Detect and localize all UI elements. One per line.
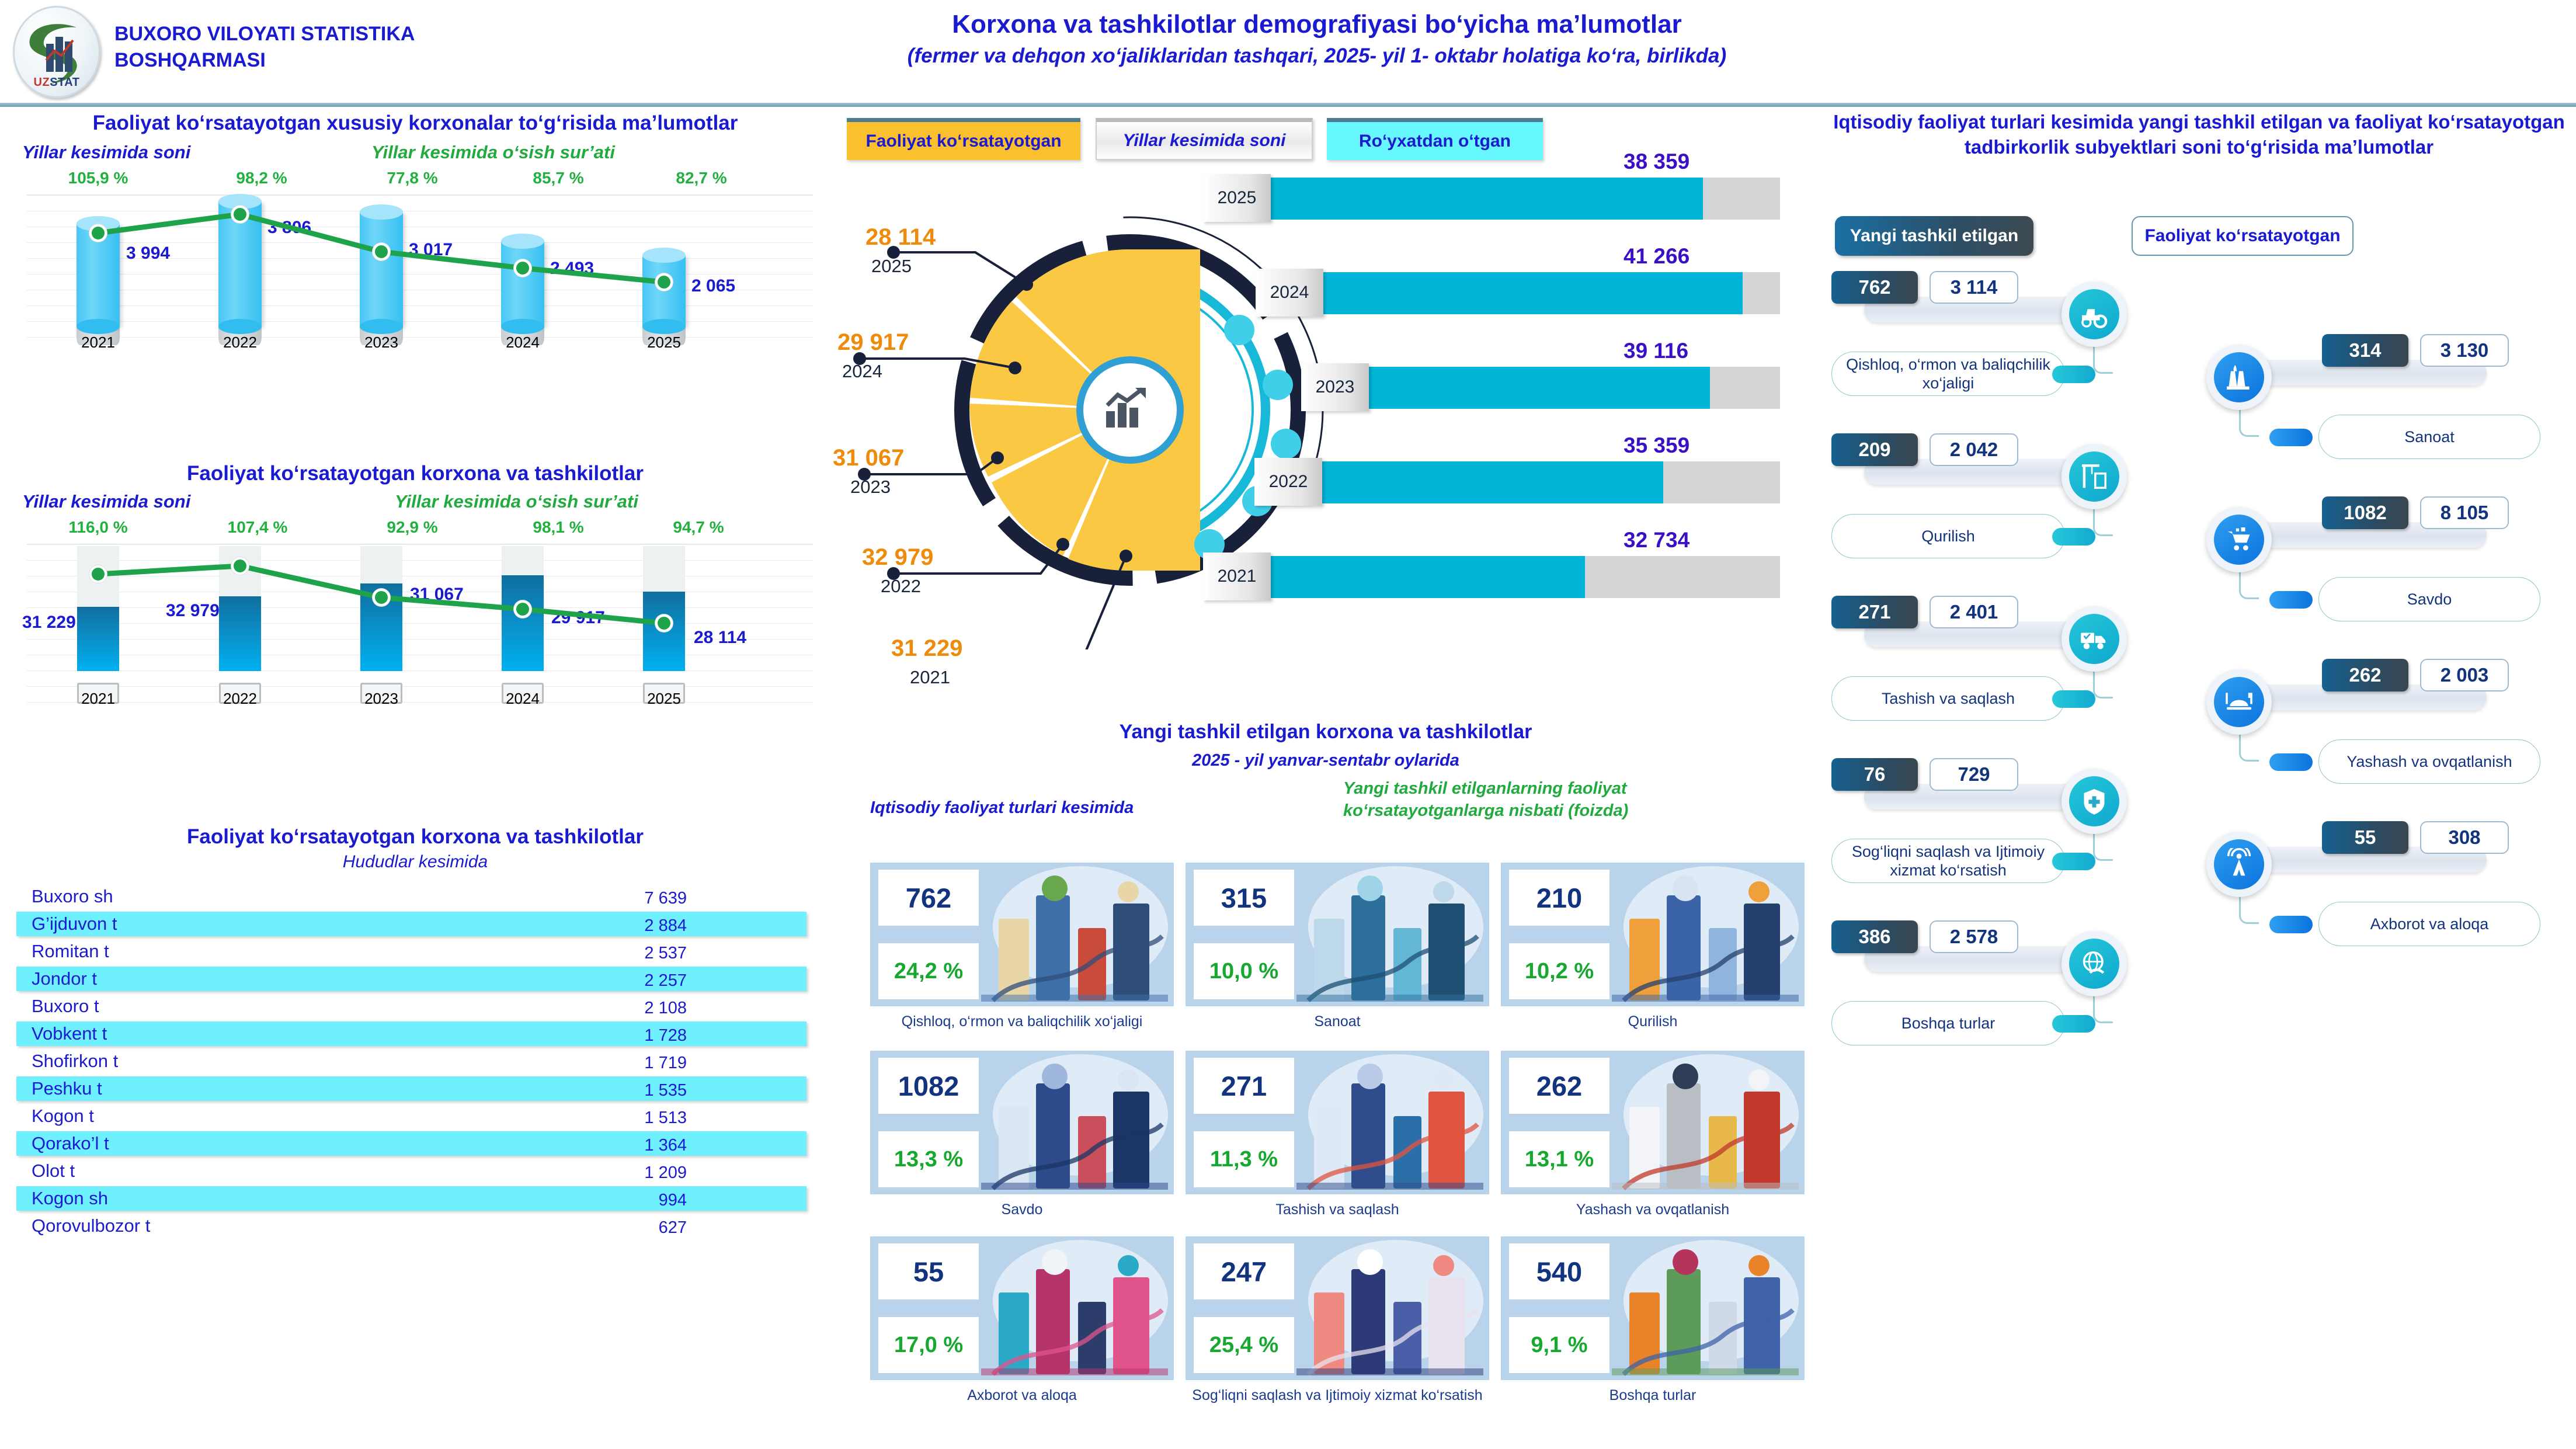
activity-card-percent: 10,0 % (1194, 943, 1294, 999)
node-connector (2269, 429, 2313, 446)
node-label: Sog‘liqni saqlash va Ijtimoiy xizmat ko‘… (1831, 839, 2065, 883)
activity-card-box: 26213,1 % (1501, 1051, 1805, 1194)
chart-active-enterprises: Faoliyat ko‘rsatayotgan korxona va tashk… (9, 461, 821, 707)
region-name: Peshku t (32, 1078, 102, 1099)
health-shield-icon (2062, 769, 2127, 834)
factory-icon (2206, 345, 2272, 410)
activity-card-count: 315 (1194, 870, 1294, 926)
table-row: Vobkent t1 728 (16, 1020, 821, 1048)
activity-card-count: 540 (1509, 1243, 1609, 1299)
activity-card-caption: Sog‘liqni saqlash va Ijtimoiy xizmat ko‘… (1186, 1386, 1489, 1405)
chart2-trendline (9, 544, 821, 707)
node-connector (2269, 753, 2313, 771)
region-value: 2 537 (644, 944, 687, 963)
activity-card-caption: Tashish va saqlash (1186, 1200, 1489, 1219)
chart2-growth-2022: 107,4 % (228, 518, 288, 537)
chart1-growth-2023: 77,8 % (387, 169, 437, 187)
region-table-block: Faoliyat ko‘rsatayotgan korxona va tashk… (9, 825, 821, 872)
node-new-count: 209 (1831, 433, 1918, 466)
donut-value-2024: 29 917 (837, 329, 909, 356)
chart-private-enterprises: Faoliyat ko‘rsatayotgan xususiy korxonal… (9, 111, 821, 350)
node-new-count: 271 (1831, 596, 1918, 628)
activity-card-count: 1082 (878, 1058, 979, 1114)
region-name: Buxoro sh (32, 886, 113, 907)
node-connector (2052, 1015, 2095, 1033)
activity-card: 24725,4 %Sog‘liqni saqlash va Ijtimoiy x… (1186, 1236, 1489, 1405)
activity-card: 76224,2 %Qishloq, o‘rmon va baliqchilik … (870, 863, 1174, 1031)
hbar-track-2021 (1266, 556, 1780, 598)
hbar-track-2023 (1364, 367, 1780, 409)
chart1-growth-2022: 98,2 % (236, 169, 287, 187)
activity-node: 3862 578Boshqa turlar (1829, 920, 2179, 1055)
activity-card-box: 76224,2 % (870, 863, 1174, 1006)
region-value: 1 719 (644, 1054, 687, 1073)
chart2-legend-count: Yillar kesimida soni (22, 491, 190, 512)
node-active-count: 3 114 (1930, 271, 2018, 304)
hbar-value-2023: 39 116 (1624, 339, 1688, 363)
region-value: 1 364 (644, 1136, 687, 1155)
activity-card-caption: Sanoat (1186, 1012, 1489, 1031)
activity-card-box: 27111,3 % (1186, 1051, 1489, 1194)
table-row: Olot t1 209 (16, 1158, 821, 1185)
it-icon (975, 1236, 1174, 1380)
legend-active-operating: Faoliyat ko‘rsatayotgan (2132, 216, 2353, 256)
region-table-subtitle: Hududlar kesimida (9, 852, 821, 872)
hbar-year-2023: 2023 (1301, 363, 1369, 411)
other-icon (1606, 1236, 1805, 1380)
activity-card: 5409,1 %Boshqa turlar (1501, 1236, 1805, 1405)
node-label: Tashish va saqlash (1831, 676, 2065, 721)
donut-value-2021: 31 229 (891, 635, 962, 662)
donut-value-2022: 32 979 (862, 544, 933, 571)
activity-card-box: 31510,0 % (1186, 863, 1489, 1006)
activity-card: 108213,3 %Savdo (870, 1051, 1174, 1219)
delivery-icon (1291, 1051, 1489, 1194)
node-new-count: 55 (2322, 821, 2408, 854)
page-title-main: Korxona va tashkilotlar demografiyasi bo… (689, 8, 1945, 40)
hbar-row-2021: 2021 32 734 (1203, 543, 1810, 609)
region-value: 1 535 (644, 1081, 687, 1100)
region-table-title: Faoliyat ko‘rsatayotgan korxona va tashk… (9, 825, 821, 850)
activity-card-box: 108213,3 % (870, 1051, 1174, 1194)
node-new-count: 386 (1831, 920, 1918, 953)
chart2-point-2022 (231, 557, 249, 575)
crane-icon (2062, 444, 2127, 509)
industry-icon (1291, 863, 1489, 1006)
chart1-point-2021 (89, 224, 107, 242)
hbar-value-2025: 38 359 (1624, 150, 1689, 174)
node-elbow (2239, 896, 2259, 924)
node-connector (2052, 853, 2095, 870)
region-name: Shofirkon t (32, 1051, 118, 1072)
node-label: Boshqa turlar (1831, 1001, 2065, 1045)
region-name: Qorako’l t (32, 1133, 109, 1154)
table-row: Shofirkon t1 719 (16, 1048, 821, 1075)
restaurant-icon (1606, 1051, 1805, 1194)
page-title: Korxona va tashkilotlar demografiyasi bo… (689, 8, 1945, 70)
region-name: Vobkent t (32, 1023, 107, 1044)
node-active-count: 308 (2420, 821, 2509, 854)
node-elbow (2093, 995, 2113, 1023)
hbar-track-2025 (1266, 178, 1780, 220)
region-table: Buxoro sh7 639G’ijduvon t2 884Romitan t2… (16, 883, 821, 1240)
new-legend-left: Iqtisodiy faoliyat turlari kesimida (870, 798, 1134, 818)
activity-card-count: 271 (1194, 1058, 1294, 1114)
region-name: G’ijduvon t (32, 913, 117, 934)
table-row: Qorovulbozor t627 (16, 1212, 821, 1240)
chart2-point-2025 (655, 614, 673, 632)
organization-name: BUXORO VILOYATI STATISTIKA BOSHQARMASI (114, 21, 523, 74)
chart1-point-2025 (655, 273, 673, 291)
row-highlight (16, 912, 806, 936)
node-elbow (2239, 409, 2259, 437)
activity-card-box: 21010,2 % (1501, 863, 1805, 1006)
donut-year-2025: 2025 (871, 256, 912, 277)
activity-card-percent: 24,2 % (878, 943, 979, 999)
chart2-point-2024 (514, 600, 531, 618)
activity-card-percent: 10,2 % (1509, 943, 1609, 999)
hbar-value-2021: 32 734 (1624, 528, 1689, 553)
registered-bars-chart: 2025 38 359 2024 41 266 2023 39 116 2022 (1203, 165, 1810, 655)
node-new-count: 1082 (2322, 496, 2408, 529)
legend-new-established: Yangi tashkil etilgan (1835, 216, 2033, 256)
hbar-row-2025: 2025 38 359 (1203, 165, 1810, 230)
donut-year-2023: 2023 (850, 477, 891, 498)
new-enterprises-title: Yangi tashkil etilgan korxona va tashkil… (829, 721, 1822, 743)
activity-card-count: 55 (878, 1243, 979, 1299)
node-elbow (2239, 734, 2259, 762)
activity-card-count: 247 (1194, 1243, 1294, 1299)
node-new-count: 762 (1831, 271, 1918, 304)
node-connector (2052, 366, 2095, 383)
node-elbow (2093, 346, 2113, 374)
tractor-icon (2062, 282, 2127, 347)
cart-icon (2206, 507, 2272, 572)
chart1-title: Faoliyat ko‘rsatayotgan xususiy korxonal… (9, 111, 821, 136)
node-label: Qishloq, o‘rmon va baliqchilik xo‘jaligi (1831, 352, 2065, 396)
hbar-row-2023: 2023 39 116 (1203, 354, 1810, 419)
hbar-year-2022: 2022 (1254, 458, 1322, 506)
tab-yillar-kesimida-soni[interactable]: Yillar kesimida soni (1096, 118, 1313, 160)
region-value: 7 639 (644, 889, 687, 908)
center-panel: Faoliyat ko‘rsatayotgan Yillar kesimida … (829, 106, 1822, 1449)
activity-card: 26213,1 %Yashash va ovqatlanish (1501, 1051, 1805, 1219)
activity-node: 76729Sog‘liqni saqlash va Ijtimoiy xizma… (1829, 758, 2179, 892)
node-new-count: 262 (2322, 659, 2408, 692)
logo-stat-text: STAT (50, 76, 79, 89)
node-connector (2269, 916, 2313, 933)
activity-card: 5517,0 %Axborot va aloqa (870, 1236, 1174, 1405)
region-value: 1 209 (644, 1163, 687, 1183)
region-name: Buxoro t (32, 996, 99, 1017)
chart1-growth-2025: 82,7 % (676, 169, 726, 187)
hbar-value-2022: 35 359 (1624, 433, 1689, 458)
activity-card-box: 24725,4 % (1186, 1236, 1489, 1380)
left-panel: Faoliyat ko‘rsatayotgan xususiy korxonal… (0, 106, 829, 1449)
node-active-count: 2 401 (1930, 596, 2018, 628)
activity-card-percent: 13,3 % (878, 1131, 979, 1187)
node-active-count: 8 105 (2420, 496, 2509, 529)
activity-node: 2092 042Qurilish (1829, 433, 2179, 568)
chart1-legend-growth: Yillar kesimida o‘sish sur’ati (371, 142, 615, 163)
node-active-count: 3 130 (2420, 334, 2509, 367)
region-value: 1 728 (644, 1026, 687, 1045)
chart2-growth-2025: 94,7 % (673, 518, 724, 537)
activity-card-caption: Yashash va ovqatlanish (1501, 1200, 1805, 1219)
node-connector (2269, 591, 2313, 609)
node-elbow (2093, 508, 2113, 536)
node-active-count: 2 042 (1930, 433, 2018, 466)
node-label: Sanoat (2318, 415, 2540, 459)
hbar-track-2022 (1317, 461, 1780, 503)
chart2-growth-2021: 116,0 % (68, 518, 127, 537)
donut-year-2024: 2024 (842, 361, 882, 382)
table-row: Qorako’l t1 364 (16, 1130, 821, 1158)
region-value: 1 513 (644, 1109, 687, 1128)
node-connector (2052, 690, 2095, 708)
chart1-point-2024 (514, 259, 531, 277)
chart1-point-2023 (373, 243, 390, 260)
table-row: G’ijduvon t2 884 (16, 911, 821, 938)
chart1-legend-count: Yillar kesimida soni (22, 142, 190, 163)
health-icon (1291, 1236, 1489, 1380)
chart2-legend-growth: Yillar kesimida o‘sish sur’ati (395, 491, 638, 512)
chart2-point-2023 (373, 589, 390, 606)
new-legend-right: Yangi tashkil etilganlarning faoliyat ko… (1343, 778, 1787, 822)
activity-card: 27111,3 %Tashish va saqlash (1186, 1051, 1489, 1219)
activity-card-percent: 9,1 % (1509, 1317, 1609, 1373)
page-header: UZSTAT BUXORO VILOYATI STATISTIKA BOSHQA… (0, 0, 2576, 104)
activity-card-box: 5409,1 % (1501, 1236, 1805, 1380)
right-panel: Iqtisodiy faoliyat turlari kesimida yang… (1822, 106, 2576, 1449)
node-label: Savdo (2318, 577, 2540, 621)
activity-card-caption: Savdo (870, 1200, 1174, 1219)
region-name: Jondor t (32, 968, 97, 989)
region-value: 2 257 (644, 971, 687, 991)
region-name: Kogon t (32, 1106, 94, 1127)
activity-card-caption: Axborot va aloqa (870, 1386, 1174, 1405)
chart2-title: Faoliyat ko‘rsatayotgan korxona va tashk… (9, 461, 821, 487)
chart1-growth-2021: 105,9 % (68, 169, 128, 187)
hbar-year-2025: 2025 (1203, 174, 1271, 222)
activity-card-box: 5517,0 % (870, 1236, 1174, 1380)
node-elbow (2239, 571, 2259, 599)
activity-node: 10828 105Savdo (2196, 496, 2546, 631)
shopping-icon (975, 1051, 1174, 1194)
table-row: Kogon t1 513 (16, 1103, 821, 1130)
activity-node: 2712 401Tashish va saqlash (1829, 596, 2179, 730)
node-new-count: 314 (2322, 334, 2408, 367)
region-value: 627 (659, 1218, 687, 1238)
region-value: 2 884 (644, 916, 687, 936)
activity-card-caption: Boshqa turlar (1501, 1386, 1805, 1405)
table-row: Buxoro sh7 639 (16, 883, 821, 911)
row-highlight (16, 1186, 806, 1211)
chart2-growth-labels: 116,0 % 107,4 % 92,9 % 98,1 % 94,7 % (9, 518, 821, 544)
donut-value-2023: 31 067 (833, 445, 904, 471)
table-row: Buxoro t2 108 (16, 993, 821, 1020)
activity-card-count: 210 (1509, 870, 1609, 926)
row-highlight (16, 1076, 806, 1101)
node-label: Axborot va aloqa (2318, 902, 2540, 946)
activity-card-percent: 25,4 % (1194, 1317, 1294, 1373)
uzstat-logo: UZSTAT (13, 6, 100, 98)
region-value: 2 108 (644, 999, 687, 1018)
node-label: Qurilish (1831, 514, 2065, 558)
region-name: Kogon sh (32, 1188, 108, 1209)
activity-node: 55308Axborot va aloqa (2196, 821, 2546, 955)
hbar-row-2022: 2022 35 359 (1203, 449, 1810, 514)
table-row: Jondor t2 257 (16, 965, 821, 993)
activity-node: 2622 003Yashash va ovqatlanish (2196, 659, 2546, 793)
donut-value-2025: 28 114 (865, 224, 936, 251)
chart1-trendline (9, 194, 821, 350)
tab-faoliyat-korsatayotgan[interactable]: Faoliyat ko‘rsatayotgan (847, 118, 1080, 160)
activity-card-percent: 13,1 % (1509, 1131, 1609, 1187)
chart1-growth-2024: 85,7 % (533, 169, 583, 187)
node-active-count: 2 003 (2420, 659, 2509, 692)
agriculture-icon (975, 863, 1174, 1006)
activity-card-caption: Qishloq, o‘rmon va baliqchilik xo‘jaligi (870, 1012, 1174, 1031)
row-highlight (16, 1131, 806, 1156)
page-title-sub: (fermer va dehqon xo‘jaliklaridan tashqa… (689, 43, 1945, 70)
node-active-count: 2 578 (1930, 920, 2018, 953)
table-row: Kogon sh994 (16, 1185, 821, 1212)
row-highlight (16, 1021, 806, 1046)
activity-card-percent: 17,0 % (878, 1317, 979, 1373)
node-label: Yashash va ovqatlanish (2318, 739, 2540, 784)
activity-node: 3143 130Sanoat (2196, 334, 2546, 468)
node-connector (2052, 528, 2095, 545)
antenna-icon (2206, 832, 2272, 897)
chart2-growth-2023: 92,9 % (387, 518, 437, 537)
activity-card-count: 762 (878, 870, 979, 926)
chart1-plot: 3 994 3 806 3 017 2 493 2 065 2021 2022 … (9, 194, 821, 350)
node-elbow (2093, 833, 2113, 861)
node-active-count: 729 (1930, 758, 2018, 791)
node-elbow (2093, 670, 2113, 699)
chart1-growth-labels: 105,9 % 98,2 % 77,8 % 85,7 % 82,7 % (9, 169, 821, 194)
tab-royxatdan-otgan[interactable]: Ro‘yxatdan o‘tgan (1327, 118, 1543, 160)
chart2-plot: 31 229 32 979 31 067 29 917 28 114 2021 … (9, 544, 821, 707)
activity-card-caption: Qurilish (1501, 1012, 1805, 1031)
donut-year-2022: 2022 (881, 576, 921, 597)
region-value: 994 (659, 1191, 687, 1210)
hbar-year-2021: 2021 (1203, 553, 1271, 600)
donut-year-2021: 2021 (910, 667, 950, 688)
hbar-year-2024: 2024 (1256, 269, 1323, 317)
construction-icon (1606, 863, 1805, 1006)
logo-uz-text: UZ (34, 76, 50, 89)
activity-card-percent: 11,3 % (1194, 1131, 1294, 1187)
hbar-value-2024: 41 266 (1624, 244, 1689, 269)
chart2-point-2021 (89, 565, 107, 583)
activity-node: 7623 114Qishloq, o‘rmon va baliqchilik x… (1829, 271, 2179, 405)
node-new-count: 76 (1831, 758, 1918, 791)
activity-card: 21010,2 %Qurilish (1501, 863, 1805, 1031)
chart1-point-2022 (231, 206, 249, 223)
right-panel-title: Iqtisodiy faoliyat turlari kesimida yang… (1828, 110, 2570, 160)
globe-icon (2062, 931, 2127, 996)
region-name: Qorovulbozor t (32, 1215, 150, 1236)
region-name: Romitan t (32, 941, 109, 962)
chart2-growth-2024: 98,1 % (533, 518, 583, 537)
truck-icon (2062, 606, 2127, 672)
hbar-track-2024 (1319, 272, 1780, 314)
activity-card: 31510,0 %Sanoat (1186, 863, 1489, 1031)
table-row: Peshku t1 535 (16, 1075, 821, 1103)
activity-card-count: 262 (1509, 1058, 1609, 1114)
region-name: Olot t (32, 1160, 75, 1182)
row-highlight (16, 967, 806, 991)
hbar-row-2024: 2024 41 266 (1203, 259, 1810, 325)
new-enterprises-subtitle: 2025 - yil yanvar-sentabr oylarida (829, 751, 1822, 770)
dish-icon (2206, 669, 2272, 735)
table-row: Romitan t2 537 (16, 938, 821, 965)
